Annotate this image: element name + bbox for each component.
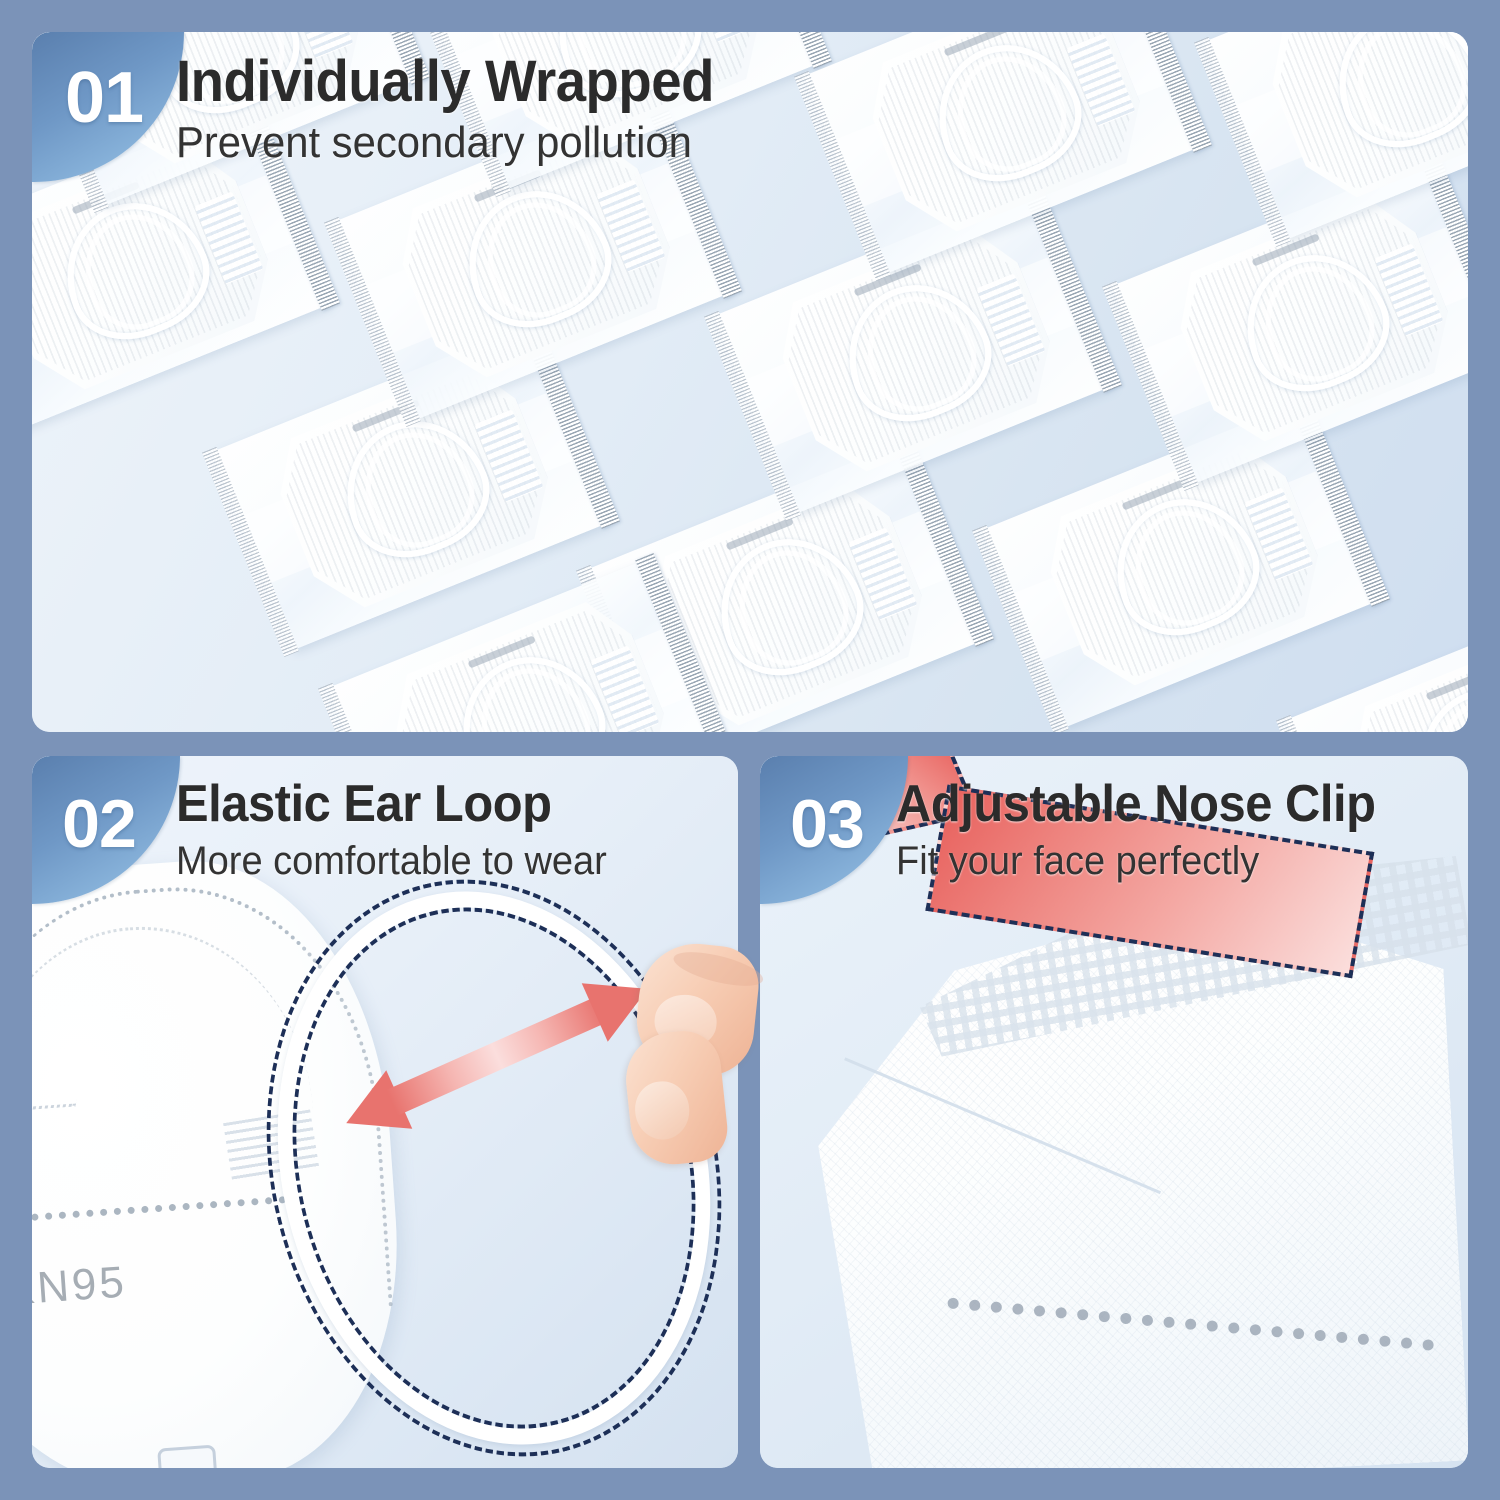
step-number-01: 01 [48, 62, 160, 134]
feature-title-02: Elastic Ear Loop [176, 778, 602, 831]
feature-subtitle-02: More comfortable to wear [176, 839, 607, 883]
index-finger [621, 1027, 730, 1168]
feature-heading-03: Adjustable Nose Clip Fit your face perfe… [900, 778, 1410, 883]
feature-heading-01: Individually Wrapped Prevent secondary p… [176, 52, 748, 168]
kn95-mask-graphic [779, 861, 1468, 1468]
infographic-board: 01 Individually Wrapped Prevent secondar… [0, 0, 1500, 1500]
step-number-02: 02 [44, 790, 154, 858]
mask-label-kn95: KN95 [32, 1257, 128, 1315]
feature-heading-02: Elastic Ear Loop More comfortable to wea… [176, 778, 630, 883]
feature-title-03: Adjustable Nose Clip [896, 778, 1375, 831]
feature-title-01: Individually Wrapped [176, 52, 714, 111]
feature-subtitle-03: Fit your face perfectly [896, 839, 1381, 883]
step-number-03: 03 [772, 790, 882, 858]
feature-subtitle-01: Prevent secondary pollution [176, 119, 720, 167]
hand-pinching-loop [614, 948, 764, 1168]
